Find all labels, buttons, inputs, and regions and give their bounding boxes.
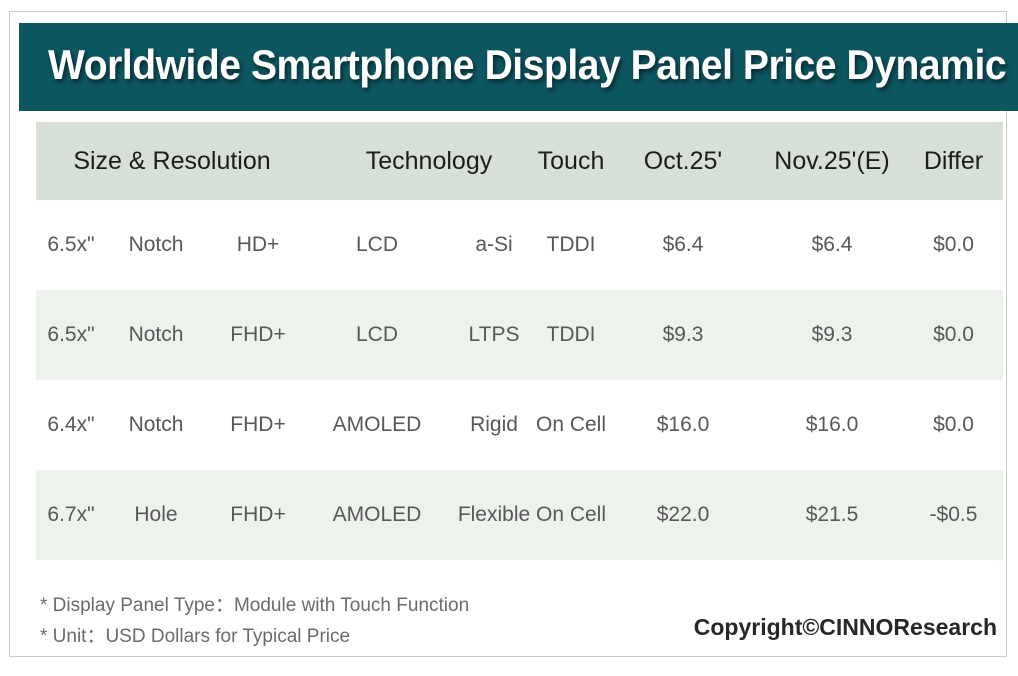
- column-header-nov: Nov.25'(E): [764, 122, 900, 200]
- column-header-technology: Technology: [314, 122, 544, 200]
- cell-size: 6.5x": [36, 200, 106, 290]
- cell-nov-price: $6.4: [764, 200, 900, 290]
- cell-technology: AMOLED: [314, 470, 440, 560]
- cell-differ: $0.0: [904, 200, 1003, 290]
- cell-notch: Notch: [108, 290, 204, 380]
- table-row: 6.5x" Notch HD+ LCD a-Si TDDI $6.4 $6.4 …: [36, 200, 1003, 290]
- cell-touch: On Cell: [516, 470, 626, 560]
- cell-oct-price: $16.0: [628, 380, 738, 470]
- copyright-label: Copyright©CINNOResearch: [694, 614, 997, 641]
- cell-size: 6.4x": [36, 380, 106, 470]
- cell-nov-price: $9.3: [764, 290, 900, 380]
- cell-differ: $0.0: [904, 290, 1003, 380]
- column-header-size-resolution: Size & Resolution: [36, 122, 308, 200]
- cell-resolution: FHD+: [208, 380, 308, 470]
- column-header-differ: Differ: [904, 122, 1003, 200]
- table-row: 6.7x" Hole FHD+ AMOLED Flexible On Cell …: [36, 470, 1003, 560]
- footnotes: * Display Panel Type：Module with Touch F…: [40, 590, 469, 652]
- footnote-panel-type: * Display Panel Type：Module with Touch F…: [40, 590, 469, 621]
- footer: * Display Panel Type：Module with Touch F…: [40, 590, 1000, 654]
- table-row: 6.4x" Notch FHD+ AMOLED Rigid On Cell $1…: [36, 380, 1003, 470]
- report-card: Worldwide Smartphone Display Panel Price…: [9, 11, 1007, 657]
- table-header-row: Size & Resolution Technology Touch Oct.2…: [36, 122, 1003, 200]
- cell-resolution: FHD+: [208, 290, 308, 380]
- cell-resolution: FHD+: [208, 470, 308, 560]
- table-row: 6.5x" Notch FHD+ LCD LTPS TDDI $9.3 $9.3…: [36, 290, 1003, 380]
- cell-touch: On Cell: [516, 380, 626, 470]
- cell-touch: TDDI: [516, 290, 626, 380]
- cell-technology: LCD: [314, 200, 440, 290]
- cell-differ: -$0.5: [904, 470, 1003, 560]
- title-bar: Worldwide Smartphone Display Panel Price…: [19, 23, 1018, 111]
- cell-oct-price: $22.0: [628, 470, 738, 560]
- cell-size: 6.7x": [36, 470, 106, 560]
- cell-technology: AMOLED: [314, 380, 440, 470]
- cell-touch: TDDI: [516, 200, 626, 290]
- page-title: Worldwide Smartphone Display Panel Price…: [48, 41, 969, 89]
- cell-oct-price: $9.3: [628, 290, 738, 380]
- cell-nov-price: $16.0: [764, 380, 900, 470]
- column-header-oct: Oct.25': [628, 122, 738, 200]
- price-table: Size & Resolution Technology Touch Oct.2…: [36, 122, 1003, 560]
- cell-notch: Notch: [108, 200, 204, 290]
- cell-size: 6.5x": [36, 290, 106, 380]
- cell-notch: Notch: [108, 380, 204, 470]
- cell-oct-price: $6.4: [628, 200, 738, 290]
- cell-resolution: HD+: [208, 200, 308, 290]
- cell-notch: Hole: [108, 470, 204, 560]
- column-header-touch: Touch: [516, 122, 626, 200]
- footnote-unit: * Unit：USD Dollars for Typical Price: [40, 621, 469, 652]
- cell-nov-price: $21.5: [764, 470, 900, 560]
- cell-differ: $0.0: [904, 380, 1003, 470]
- cell-technology: LCD: [314, 290, 440, 380]
